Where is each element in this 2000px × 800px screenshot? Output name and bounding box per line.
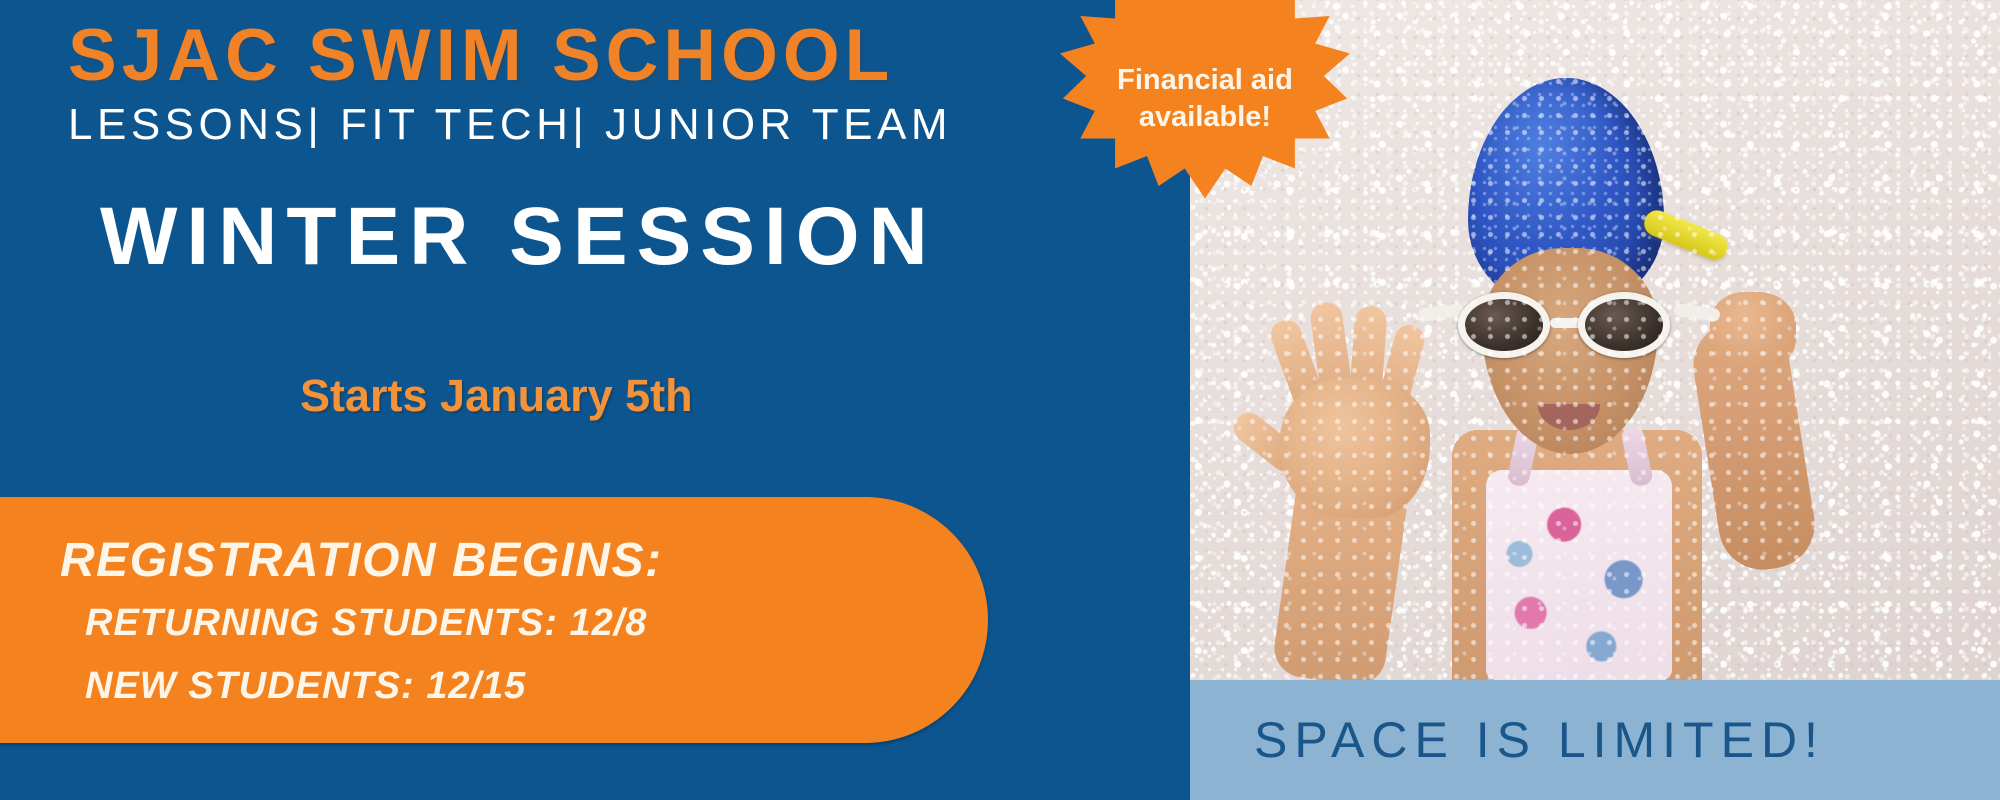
goggle-lens-right	[1578, 292, 1670, 358]
season-title: WINTER SESSION	[100, 190, 937, 284]
brand-subtitle: LESSONS| FIT TECH| JUNIOR TEAM	[68, 100, 952, 150]
goggle-strap-right	[1673, 303, 1720, 322]
registration-pill: REGISTRATION BEGINS: RETURNING STUDENTS:…	[0, 497, 988, 743]
promotional-banner: SJAC SWIM SCHOOL LESSONS| FIT TECH| JUNI…	[0, 0, 2000, 800]
goggle-lens-left	[1458, 292, 1550, 358]
raised-fist	[1710, 292, 1796, 368]
registration-heading: REGISTRATION BEGINS:	[60, 533, 662, 588]
registration-new-students: NEW STUDENTS: 12/15	[85, 665, 526, 708]
space-limited-label: SPACE IS LIMITED!	[1254, 711, 1825, 769]
waving-hand	[1246, 300, 1452, 496]
floral-swimsuit	[1486, 470, 1672, 680]
left-text-panel: SJAC SWIM SCHOOL LESSONS| FIT TECH| JUNI…	[0, 0, 1190, 800]
space-limited-bar: SPACE IS LIMITED!	[1190, 680, 2000, 800]
registration-returning-students: RETURNING STUDENTS: 12/8	[85, 602, 647, 645]
season-start-date: Starts January 5th	[300, 370, 693, 422]
palm	[1280, 378, 1430, 518]
financial-aid-label: Financial aid available!	[1100, 62, 1310, 136]
brand-title: SJAC SWIM SCHOOL	[68, 14, 894, 97]
swim-goggles	[1458, 288, 1680, 362]
